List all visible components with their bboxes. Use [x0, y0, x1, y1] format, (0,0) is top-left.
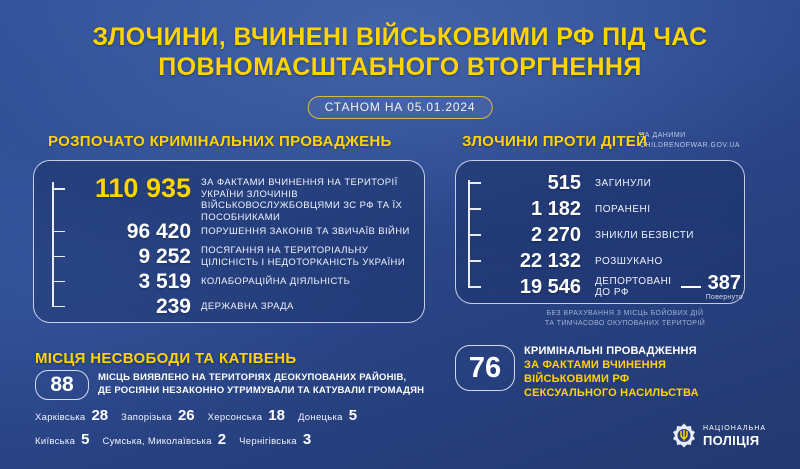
region-value: 18	[268, 407, 285, 424]
section-heading-detention-places: МІСЦЯ НЕСВОБОДИ ТА КАТІВЕНЬ	[35, 350, 296, 367]
title-line-1: ЗЛОЧИНИ, ВЧИНЕНІ ВІЙСЬКОВИМИ РФ ПІД ЧАС	[0, 22, 800, 52]
note-line-2: ТА ТИМЧАСОВО ОКУПОВАНИХ ТЕРИТОРІЙ	[545, 320, 705, 327]
region-value: 3	[303, 431, 311, 448]
row-value: 9 252	[69, 245, 191, 269]
title-line-2: ПОВНОМАСШТАБНОГО ВТОРГНЕННЯ	[0, 52, 800, 82]
sexual-violence-description: КРИМІНАЛЬНІ ПРОВАДЖЕННЯ ЗА ФАКТАМИ ВЧИНЕ…	[524, 344, 774, 400]
region-item: Херсонська 18	[208, 407, 285, 424]
data-source-credit: ЗА ДАНИМИ CHILDRENOFWAR.GOV.UA	[640, 131, 740, 150]
row-value: 96 420	[69, 220, 191, 244]
tick-mark	[468, 208, 481, 210]
list-item: 2 270 ЗНИКЛИ БЕЗВІСТИ	[468, 222, 738, 248]
returned-children-group: 387 Повернуто	[676, 273, 743, 301]
list-item: 1 182 ПОРАНЕНІ	[468, 196, 738, 222]
detention-places-description: МІСЦЬ ВИЯВЛЕНО НА ТЕРИТОРІЯХ ДЕОКУПОВАНИ…	[98, 372, 433, 397]
row-label: РОЗШУКАНО	[595, 256, 663, 267]
region-value: 28	[91, 407, 108, 424]
list-item: 19 546 ДЕПОРТОВАНІ ДО РФ 387 Повернуто	[468, 274, 738, 300]
desc-line-2: ДЕ РОСІЯНИ НЕЗАКОННО УТРИМУВАЛИ ТА КАТУВ…	[98, 385, 424, 396]
row-value: 22 132	[485, 250, 581, 273]
sexual-violence-count-badge: 76	[455, 345, 515, 391]
row-label: ПОСЯГАННЯ НА ТЕРИТОРІАЛЬНУ ЦІЛІСНІСТЬ І …	[201, 245, 422, 268]
region-value: 5	[349, 407, 357, 424]
children-data-note: БЕЗ ВРАХУВАННЯ З МІСЦЬ БОЙОВИХ ДІЙ ТА ТИ…	[500, 309, 750, 328]
returned-caption: Повернуто	[706, 294, 743, 301]
region-value: 5	[81, 431, 89, 448]
region-item: Чернігівська 3	[239, 431, 311, 448]
row-label: ЗА ФАКТАМИ ВЧИНЕННЯ НА ТЕРИТОРІЇ УКРАЇНИ…	[201, 177, 422, 223]
sv-line-2: ЗА ФАКТАМИ ВЧИНЕННЯ	[524, 359, 666, 371]
region-value: 26	[178, 407, 195, 424]
row-label: ДЕПОРТОВАНІ ДО РФ	[595, 276, 672, 298]
sv-line-3: ВІЙСЬКОВИМИ РФ	[524, 373, 629, 385]
region-item: Харківська 28	[35, 407, 108, 424]
connector-dash	[681, 286, 701, 288]
list-item: 22 132 РОЗШУКАНО	[468, 248, 738, 274]
row-label: ЗНИКЛИ БЕЗВІСТИ	[595, 230, 694, 241]
region-item: Київська 5	[35, 431, 90, 448]
region-name: Херсонська	[208, 412, 263, 423]
source-line-1: ЗА ДАНИМИ	[640, 132, 686, 139]
row-value: 515	[485, 172, 581, 195]
region-name: Запорізька	[121, 412, 172, 423]
region-item: Сумська, Миколаївська 2	[103, 431, 227, 448]
tick-mark	[52, 256, 65, 258]
tick-mark	[52, 231, 65, 233]
national-police-logo: НАЦІОНАЛЬНА ПОЛІЦІЯ	[672, 423, 766, 448]
returned-value: 387	[706, 273, 743, 293]
row-label: ЗАГИНУЛИ	[595, 178, 651, 189]
tick-mark	[468, 234, 481, 236]
list-item: 110 935 ЗА ФАКТАМИ ВЧИНЕННЯ НА ТЕРИТОРІЇ…	[52, 172, 422, 219]
section-heading-criminal-proceedings: РОЗПОЧАТО КРИМІНАЛЬНИХ ПРОВАДЖЕНЬ	[48, 133, 392, 150]
region-name: Чернігівська	[239, 436, 297, 447]
list-item: 515 ЗАГИНУЛИ	[468, 170, 738, 196]
row-label: ДЕРЖАВНА ЗРАДА	[201, 301, 294, 313]
desc-line-1: МІСЦЬ ВИЯВЛЕНО НА ТЕРИТОРІЯХ ДЕОКУПОВАНИ…	[98, 372, 406, 383]
regions-row: Харківська 28 Запорізька 26 Херсонська 1…	[35, 407, 435, 424]
source-line-2: CHILDRENOFWAR.GOV.UA	[640, 142, 740, 149]
sv-line-4: СЕКСУАЛЬНОГО НАСИЛЬСТВА	[524, 387, 699, 399]
row-value: 110 935	[69, 172, 191, 204]
section-heading-crimes-against-children: ЗЛОЧИНИ ПРОТИ ДІТЕЙ	[462, 133, 647, 150]
crimes-against-children-list: 515 ЗАГИНУЛИ 1 182 ПОРАНЕНІ 2 270 ЗНИКЛИ…	[468, 170, 738, 300]
region-item: Донецька 5	[298, 407, 357, 424]
tick-mark	[52, 281, 65, 283]
sv-line-1: КРИМІНАЛЬНІ ПРОВАДЖЕННЯ	[524, 345, 697, 357]
page-title: ЗЛОЧИНИ, ВЧИНЕНІ ВІЙСЬКОВИМИ РФ ПІД ЧАС …	[0, 22, 800, 82]
region-name: Сумська, Миколаївська	[103, 436, 212, 447]
list-item: 96 420 ПОРУШЕННЯ ЗАКОНІВ ТА ЗВИЧАЇВ ВІЙН…	[52, 219, 422, 244]
tick-mark	[468, 286, 481, 288]
tick-mark	[468, 182, 481, 184]
row-value: 2 270	[485, 224, 581, 247]
logo-line-1: НАЦІОНАЛЬНА	[703, 425, 766, 432]
regions-breakdown: Харківська 28 Запорізька 26 Херсонська 1…	[35, 407, 435, 455]
tick-mark	[52, 306, 65, 308]
list-item: 3 519 КОЛАБОРАЦІЙНА ДІЯЛЬНІСТЬ	[52, 269, 422, 294]
region-value: 2	[218, 431, 226, 448]
criminal-proceedings-list: 110 935 ЗА ФАКТАМИ ВЧИНЕННЯ НА ТЕРИТОРІЇ…	[52, 172, 422, 319]
row-label: ПОРУШЕННЯ ЗАКОНІВ ТА ЗВИЧАЇВ ВІЙНИ	[201, 226, 410, 238]
police-badge-icon	[672, 423, 696, 448]
list-item: 239 ДЕРЖАВНА ЗРАДА	[52, 294, 422, 319]
region-name: Київська	[35, 436, 75, 447]
date-badge: СТАНОМ НА 05.01.2024	[308, 96, 493, 119]
tick-mark	[52, 188, 65, 190]
row-value: 1 182	[485, 198, 581, 221]
region-name: Донецька	[298, 412, 343, 423]
row-value: 239	[69, 295, 191, 319]
row-value: 19 546	[485, 276, 581, 299]
list-item: 9 252 ПОСЯГАННЯ НА ТЕРИТОРІАЛЬНУ ЦІЛІСНІ…	[52, 244, 422, 269]
tick-mark	[468, 260, 481, 262]
row-label: ПОРАНЕНІ	[595, 204, 651, 215]
infographic-canvas: ЗЛОЧИНИ, ВЧИНЕНІ ВІЙСЬКОВИМИ РФ ПІД ЧАС …	[0, 0, 800, 469]
region-name: Харківська	[35, 412, 85, 423]
region-item: Запорізька 26	[121, 407, 194, 424]
logo-line-2: ПОЛІЦІЯ	[703, 434, 766, 447]
note-line-1: БЕЗ ВРАХУВАННЯ З МІСЦЬ БОЙОВИХ ДІЙ	[547, 310, 704, 317]
detention-places-count-badge: 88	[35, 370, 89, 400]
row-value: 3 519	[69, 270, 191, 294]
row-label: КОЛАБОРАЦІЙНА ДІЯЛЬНІСТЬ	[201, 276, 350, 288]
regions-row: Київська 5 Сумська, Миколаївська 2 Черні…	[35, 431, 435, 448]
